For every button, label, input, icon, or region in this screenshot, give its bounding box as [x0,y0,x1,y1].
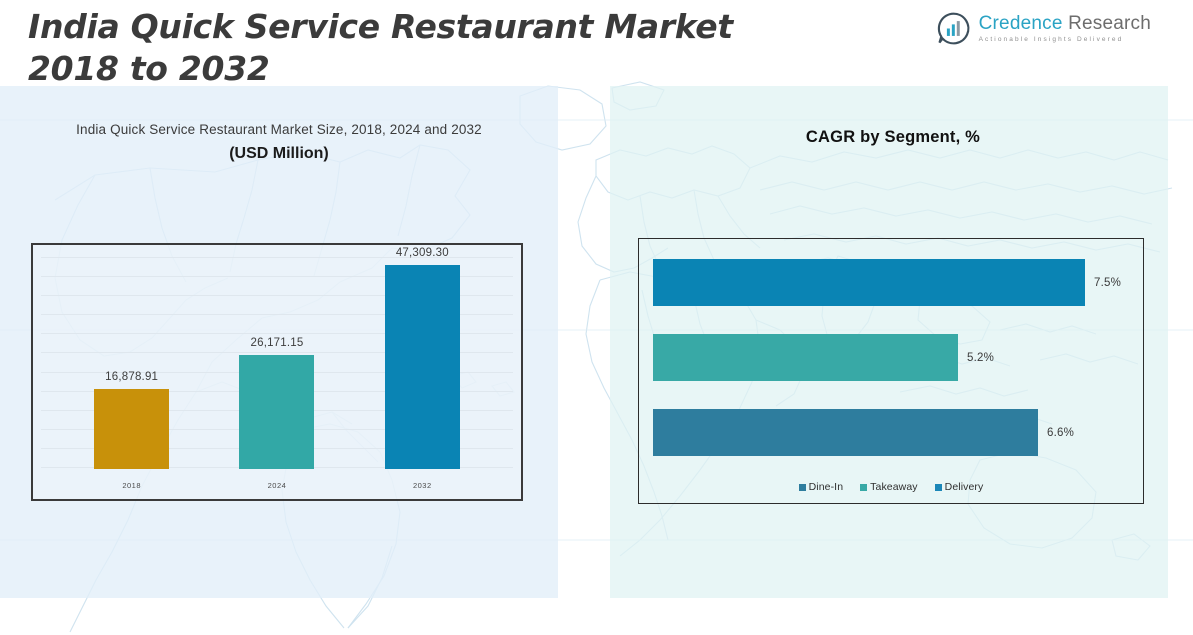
infographic-canvas: India Quick Service Restaurant Market 20… [0,0,1193,635]
market-size-bar-chart: 16,878.91 2018 26,171.15 2024 47,309.30 … [31,243,523,501]
cagr-plot-area: 7.5% 5.2% 6.6% [653,259,1133,463]
cagr-row-dinein: 6.6% [653,409,1133,456]
header: India Quick Service Restaurant Market 20… [0,0,1193,86]
legend-label: Takeaway [870,481,918,493]
bar-value-label: 6.6% [1047,427,1074,439]
logo-text: Credence Research Actionable Insights De… [979,14,1151,44]
legend-label: Dine-In [809,481,844,493]
bar-value-label: 5.2% [967,352,994,364]
brand-logo[interactable]: Credence Research Actionable Insights De… [937,12,1151,45]
title-line-1: India Quick Service Restaurant Market [28,6,828,48]
x-axis-tick-label: 2024 [268,481,287,490]
bar-chart-circle-icon [937,12,970,45]
cagr-bar-chart: 7.5% 5.2% 6.6% Dine-In Takeaway De [638,238,1144,504]
left-chart-title-line2: (USD Million) [24,145,534,163]
bar-value-label: 16,878.91 [105,371,158,383]
right-chart-title-text: CAGR by Segment, % [638,128,1148,147]
bar-column-2018: 16,878.91 2018 [94,245,169,469]
legend-swatch-icon [799,484,806,491]
page-title: India Quick Service Restaurant Market 20… [28,6,828,90]
legend-item-takeaway[interactable]: Takeaway [860,481,918,493]
left-chart-title-line1: India Quick Service Restaurant Market Si… [24,122,534,137]
cagr-row-takeaway: 5.2% [653,334,1133,381]
vertical-bar[interactable] [239,355,314,469]
legend-item-delivery[interactable]: Delivery [935,481,984,493]
x-axis-tick-label: 2018 [122,481,141,490]
vertical-bar[interactable] [94,389,169,469]
bar-value-label: 47,309.30 [396,247,449,259]
logo-name-research: Research [1068,13,1151,34]
bar-column-2024: 26,171.15 2024 [239,245,314,469]
right-chart-title: CAGR by Segment, % [638,128,1148,147]
market-size-plot-area: 16,878.91 2018 26,171.15 2024 47,309.30 … [33,245,521,499]
cagr-legend: Dine-In Takeaway Delivery [639,481,1143,493]
vertical-bar[interactable] [385,265,460,469]
cagr-row-delivery: 7.5% [653,259,1133,306]
bar-value-label: 7.5% [1094,277,1121,289]
legend-item-dine-in[interactable]: Dine-In [799,481,844,493]
horizontal-bar[interactable] [653,259,1085,306]
x-axis-tick-label: 2032 [413,481,432,490]
bar-column-2032: 47,309.30 2032 [385,245,460,469]
legend-swatch-icon [860,484,867,491]
legend-swatch-icon [935,484,942,491]
legend-label: Delivery [945,481,984,493]
logo-name-credence: Credence [979,13,1063,34]
logo-tagline: Actionable Insights Delivered [979,37,1151,44]
bar-value-label: 26,171.15 [251,337,304,349]
left-chart-title: India Quick Service Restaurant Market Si… [24,122,534,163]
title-line-2: 2018 to 2032 [28,48,828,90]
horizontal-bar[interactable] [653,409,1038,456]
horizontal-bar[interactable] [653,334,958,381]
logo-name: Credence Research [979,14,1151,33]
